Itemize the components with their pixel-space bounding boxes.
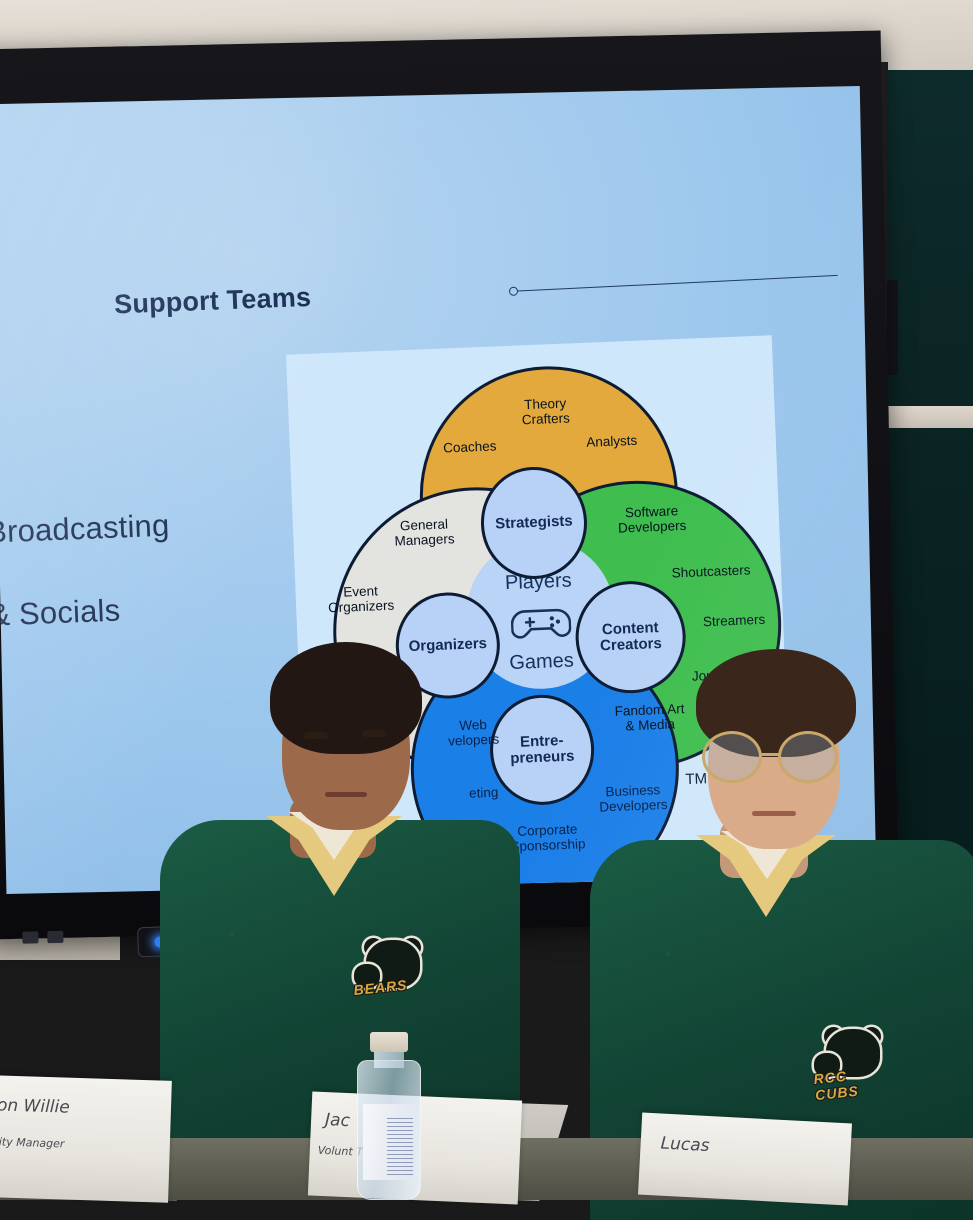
- usb-port-icon: [22, 931, 38, 943]
- tag-line-1: Event: [343, 583, 378, 599]
- bottle-cap[interactable]: [370, 1032, 408, 1052]
- tag-line-2: Organizers: [328, 598, 395, 616]
- left-text-line-1: Broadcasting: [0, 505, 247, 551]
- tag-line-1: Theory: [524, 396, 567, 413]
- page-title: Support Teams: [114, 277, 435, 320]
- name-tent-left-name: on Willie: [0, 1095, 70, 1117]
- lens-left-icon: [702, 731, 762, 783]
- node-line-2: preneurs: [510, 748, 575, 768]
- water-bottle[interactable]: [357, 1032, 421, 1200]
- name-tent-left-role: nity Manager: [0, 1135, 65, 1150]
- name-tent-left: on Willie nity Manager: [0, 1075, 172, 1203]
- jersey-logo-left: BEARS: [352, 938, 436, 1014]
- hair-left: [270, 642, 422, 754]
- cabinet-handle-upper[interactable]: [887, 280, 898, 375]
- glasses-bridge-icon: [760, 753, 780, 756]
- bottle-label-text-lines: [387, 1118, 413, 1176]
- line-rule: [518, 275, 838, 292]
- lens-right-icon: [778, 731, 838, 783]
- mouth-left: [325, 792, 367, 797]
- cabinet-shelf: [880, 406, 973, 428]
- tag-line-2: Crafters: [522, 411, 571, 428]
- name-tent-middle-name: Jac: [325, 1110, 351, 1131]
- gamepad-icon: [510, 600, 572, 646]
- bottle-label: [363, 1104, 415, 1180]
- tag-event-organizers: Event Organizers: [307, 582, 414, 616]
- tag-line-2: Developers: [618, 518, 687, 536]
- name-tent-right: Lucas: [638, 1113, 852, 1206]
- hdmi-port-icon: [47, 931, 63, 943]
- name-tent-right-name: Lucas: [660, 1134, 710, 1157]
- jersey-logo-right: RCC CUBS: [812, 1027, 896, 1103]
- mouth-right: [752, 811, 796, 816]
- decorative-line: [509, 268, 839, 298]
- tag-general-managers: General Managers: [363, 515, 486, 550]
- eye-left-l: [304, 732, 328, 739]
- eye-left-r: [362, 730, 386, 737]
- tag-line-2: Sponsorship: [510, 836, 586, 854]
- classroom-scene: Support Teams Broadcasting & Socials: [0, 0, 973, 1200]
- tag-software-developers: Software Developers: [588, 502, 715, 537]
- tag-line-2: Managers: [394, 531, 455, 548]
- circle-endpoint-icon: [509, 287, 518, 296]
- display-ports: [22, 925, 92, 948]
- eyeglasses: [700, 731, 848, 789]
- left-bullet-text: Broadcasting & Socials: [0, 505, 250, 634]
